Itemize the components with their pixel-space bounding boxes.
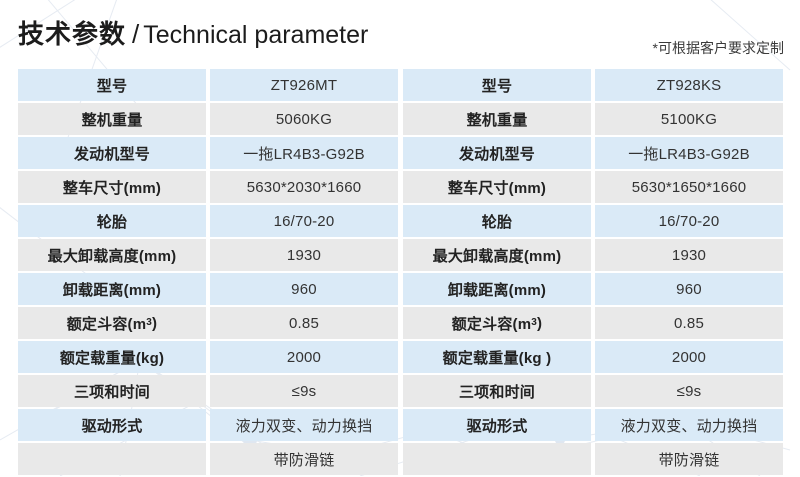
spec-label-cell: 驱动形式 [18,409,206,441]
spec-table-left: 型号ZT926MT整机重量5060KG发动机型号一拖LR4B3-G92B整车尺寸… [18,69,398,477]
spec-row: 轮胎16/70-20 [18,205,398,237]
spec-row: 驱动形式液力双变、动力换挡 [403,409,783,441]
customization-note: *可根据客户要求定制 [653,38,784,58]
spec-label-cell: 三项和时间 [403,375,591,407]
spec-label-cell: 三项和时间 [18,375,206,407]
spec-value-cell: ZT928KS [595,69,783,101]
spec-label-cell: 卸载距离(mm) [18,273,206,305]
spec-table-right: 型号ZT928KS整机重量5100KG发动机型号一拖LR4B3-G92B整车尺寸… [403,69,783,477]
spec-row: 额定载重量(kg)2000 [18,341,398,373]
spec-value-cell: 16/70-20 [210,205,398,237]
spec-row: 整机重量5060KG [18,103,398,135]
spec-row: 最大卸载高度(mm)1930 [18,239,398,271]
spec-label-cell: 轮胎 [403,205,591,237]
spec-row: 整车尺寸(mm)5630*2030*1660 [18,171,398,203]
page-title: 技术参数/Technical parameter [18,17,368,52]
spec-value-cell: 960 [595,273,783,305]
spec-value-cell: 16/70-20 [595,205,783,237]
spec-value-cell: ≤9s [595,375,783,407]
spec-row: 整车尺寸(mm)5630*1650*1660 [403,171,783,203]
spec-value-cell: 5060KG [210,103,398,135]
spec-label-cell: 整车尺寸(mm) [18,171,206,203]
spec-value-cell: 液力双变、动力换挡 [595,409,783,441]
spec-label-cell: 额定载重量(kg) [18,341,206,373]
spec-label-cell: 额定斗容(m3) [18,307,206,339]
spec-label-cell: 卸载距离(mm) [403,273,591,305]
spec-row: 型号ZT926MT [18,69,398,101]
spec-value-cell: 2000 [210,341,398,373]
spec-value-cell: 5630*1650*1660 [595,171,783,203]
spec-value-cell: 1930 [595,239,783,271]
spec-row: 额定斗容(m3)0.85 [403,307,783,339]
spec-value-cell: 0.85 [595,307,783,339]
spec-row: 三项和时间≤9s [403,375,783,407]
spec-row: 卸载距离(mm)960 [18,273,398,305]
spec-value-cell: 5100KG [595,103,783,135]
spec-row: 发动机型号一拖LR4B3-G92B [18,137,398,169]
spec-label-cell: 最大卸载高度(mm) [18,239,206,271]
spec-value-cell: 一拖LR4B3-G92B [595,137,783,169]
spec-row: 三项和时间≤9s [18,375,398,407]
spec-row: 轮胎16/70-20 [403,205,783,237]
page-title-en: Technical parameter [143,21,368,49]
spec-label-cell [403,443,591,475]
spec-label-cell: 发动机型号 [403,137,591,169]
spec-row: 整机重量5100KG [403,103,783,135]
spec-row: 带防滑链 [18,443,398,475]
spec-row: 卸载距离(mm)960 [403,273,783,305]
spec-label-cell: 驱动形式 [403,409,591,441]
spec-row: 驱动形式液力双变、动力换挡 [18,409,398,441]
spec-row: 最大卸载高度(mm)1930 [403,239,783,271]
spec-label-cell: 整机重量 [403,103,591,135]
spec-label-cell: 型号 [403,69,591,101]
page-header: 技术参数/Technical parameter *可根据客户要求定制 [0,0,800,68]
spec-value-cell: 带防滑链 [210,443,398,475]
spec-value-cell: 0.85 [210,307,398,339]
spec-value-cell: 液力双变、动力换挡 [210,409,398,441]
spec-label-cell: 型号 [18,69,206,101]
spec-label-cell: 整机重量 [18,103,206,135]
spec-value-cell: 一拖LR4B3-G92B [210,137,398,169]
spec-value-cell: 2000 [595,341,783,373]
spec-row: 发动机型号一拖LR4B3-G92B [403,137,783,169]
spec-value-cell: 1930 [210,239,398,271]
spec-row: 额定载重量(kg )2000 [403,341,783,373]
spec-label-cell: 最大卸载高度(mm) [403,239,591,271]
page-title-cn: 技术参数 [18,19,126,49]
spec-row: 带防滑链 [403,443,783,475]
spec-label-cell: 轮胎 [18,205,206,237]
spec-value-cell: 5630*2030*1660 [210,171,398,203]
spec-value-cell: 960 [210,273,398,305]
spec-label-cell: 额定斗容(m3) [403,307,591,339]
spec-row: 额定斗容(m3)0.85 [18,307,398,339]
spec-label-cell [18,443,206,475]
spec-label-cell: 额定载重量(kg ) [403,341,591,373]
spec-value-cell: ≤9s [210,375,398,407]
spec-label-cell: 整车尺寸(mm) [403,171,591,203]
spec-value-cell: 带防滑链 [595,443,783,475]
spec-value-cell: ZT926MT [210,69,398,101]
spec-row: 型号ZT928KS [403,69,783,101]
page-title-separator: / [132,19,139,49]
spec-label-cell: 发动机型号 [18,137,206,169]
